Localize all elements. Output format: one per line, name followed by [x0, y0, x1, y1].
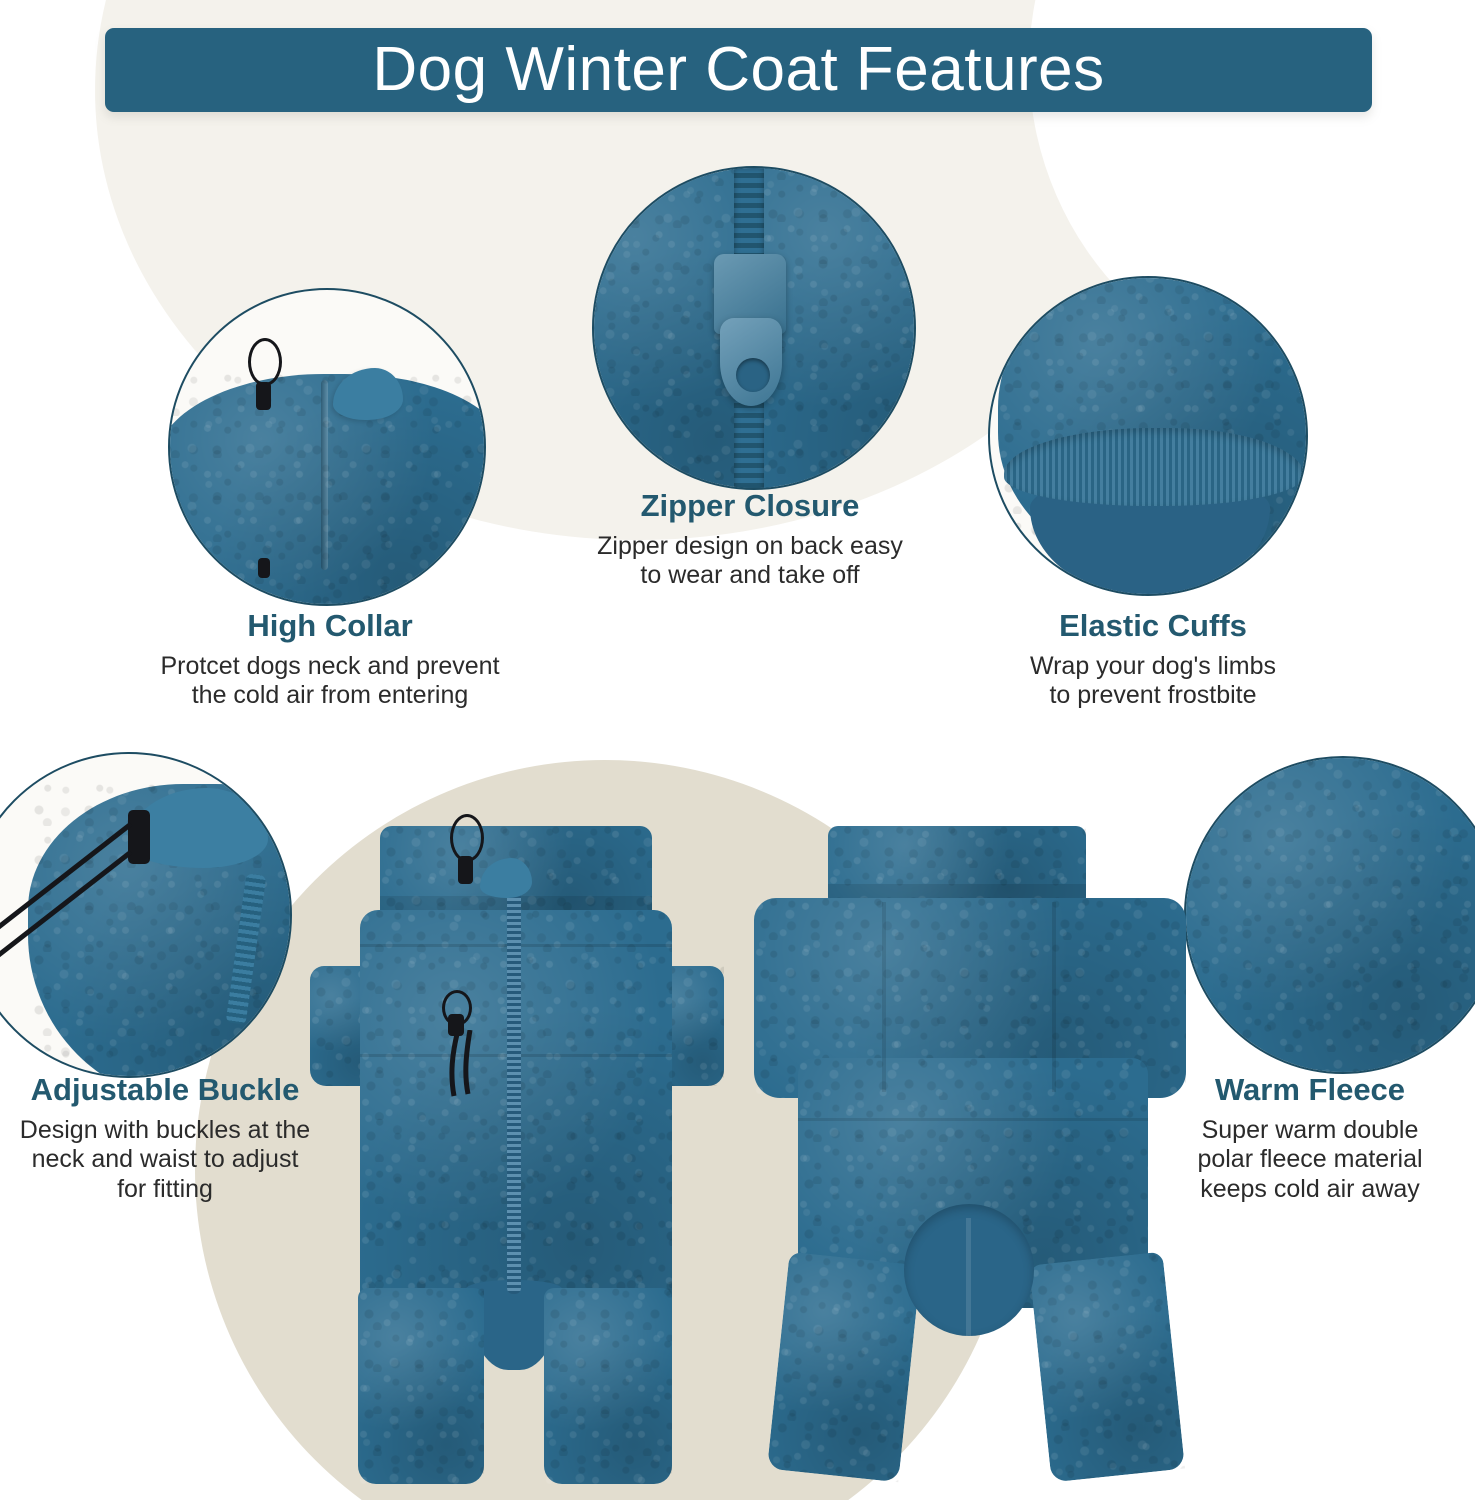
fleece-texture [544, 1288, 672, 1484]
feature-title-warm-fleece: Warm Fleece [1145, 1072, 1475, 1108]
fleece-swatch [1186, 758, 1475, 1072]
feature-title-adjustable-buckle: Adjustable Buckle [0, 1072, 330, 1108]
waist-cord-tails-icon [436, 1030, 496, 1110]
feature-desc-fleece-line3: keeps cold air away [1145, 1175, 1475, 1205]
feature-desc-buckle-line2: neck and waist to adjust [0, 1145, 330, 1175]
feature-desc-high-collar-line2: the cold air from entering [120, 681, 540, 711]
page-title: Dog Winter Coat Features [372, 39, 1104, 101]
infographic-canvas: Dog Winter Coat Features [0, 0, 1475, 1500]
feature-desc-high-collar-line1: Protcet dogs neck and prevent [120, 652, 540, 682]
cord-toggle-lower-icon [258, 558, 270, 578]
back-shoulder-seam-left [882, 902, 886, 1092]
caption-high-collar: High Collar Protcet dogs neck and preven… [120, 608, 540, 711]
back-leg-right [1029, 1252, 1185, 1483]
adjustable-buckle-photo [0, 752, 292, 1078]
feature-title-high-collar: High Collar [120, 608, 540, 644]
cord-toggle-icon [256, 382, 271, 410]
neck-drawcord-loop-icon [450, 814, 484, 862]
elastic-cuffs-photo [988, 276, 1308, 596]
neck-cord-toggle-icon [458, 856, 473, 884]
feature-desc-buckle-line1: Design with buckles at the [0, 1116, 330, 1146]
feature-desc-cuffs-line2: to prevent frostbite [958, 681, 1348, 711]
fleece-texture [358, 1288, 484, 1484]
caption-elastic-cuffs: Elastic Cuffs Wrap your dog's limbs to p… [958, 608, 1348, 711]
feature-title-elastic-cuffs: Elastic Cuffs [958, 608, 1348, 644]
feature-desc-buckle-line3: for fitting [0, 1175, 330, 1205]
back-waist-seam [798, 1118, 1148, 1121]
elastic-ribbed-band [1004, 428, 1304, 506]
feature-desc-cuffs-line1: Wrap your dog's limbs [958, 652, 1348, 682]
waist-cord-toggle-icon [448, 1014, 464, 1036]
back-shoulder-seam-right [1052, 902, 1056, 1092]
back-tail-seam [966, 1218, 971, 1336]
fleece-texture [767, 1252, 921, 1483]
warm-fleece-photo [1184, 756, 1475, 1074]
front-center-zipper [507, 874, 521, 1294]
front-leg-right [544, 1288, 672, 1484]
title-banner: Dog Winter Coat Features [105, 28, 1372, 112]
feature-desc-zipper-line1: Zipper design on back easy [540, 532, 960, 562]
zipper-pull-hole [736, 358, 770, 392]
caption-adjustable-buckle: Adjustable Buckle Design with buckles at… [0, 1072, 330, 1204]
back-leg-left [767, 1252, 921, 1483]
caption-zipper-closure: Zipper Closure Zipper design on back eas… [540, 488, 960, 591]
drawcord-strings-icon [0, 754, 292, 1078]
high-collar-photo [168, 288, 486, 606]
fleece-texture [1186, 758, 1475, 1072]
fleece-texture [1029, 1252, 1185, 1483]
collar-zipper-seam [321, 380, 328, 570]
feature-desc-fleece-line1: Super warm double [1145, 1116, 1475, 1146]
zipper-closure-photo [592, 166, 916, 490]
front-leg-left [358, 1288, 484, 1484]
product-back-view [762, 818, 1194, 1488]
feature-desc-fleece-line2: polar fleece material [1145, 1145, 1475, 1175]
feature-desc-zipper-line2: to wear and take off [540, 561, 960, 591]
caption-warm-fleece: Warm Fleece Super warm double polar flee… [1145, 1072, 1475, 1204]
feature-title-zipper-closure: Zipper Closure [540, 488, 960, 524]
drawcord-loop-icon [248, 338, 282, 386]
product-front-view [302, 818, 732, 1488]
